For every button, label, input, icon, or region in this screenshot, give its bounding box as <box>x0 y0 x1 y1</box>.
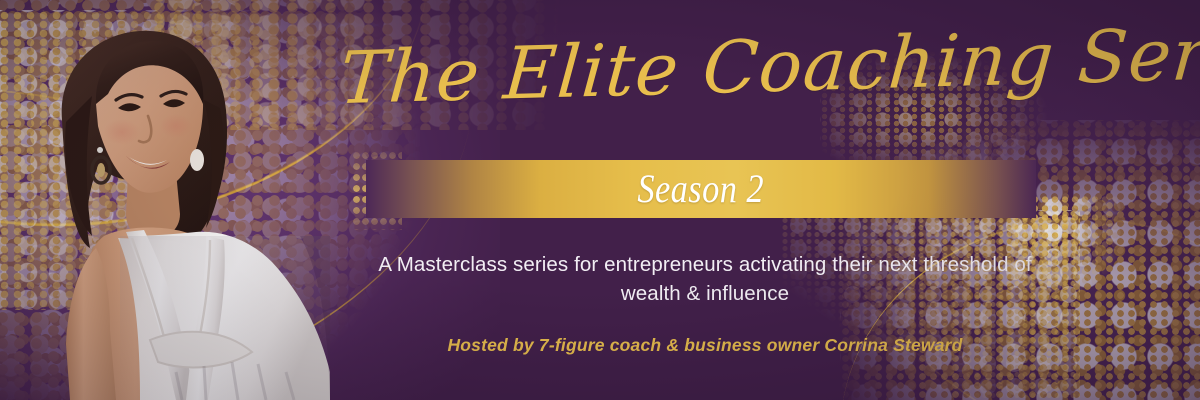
vignette-overlay <box>0 0 1200 400</box>
elite-coaching-series-banner: The Elite Coaching Series Season 2 A Mas… <box>0 0 1200 400</box>
